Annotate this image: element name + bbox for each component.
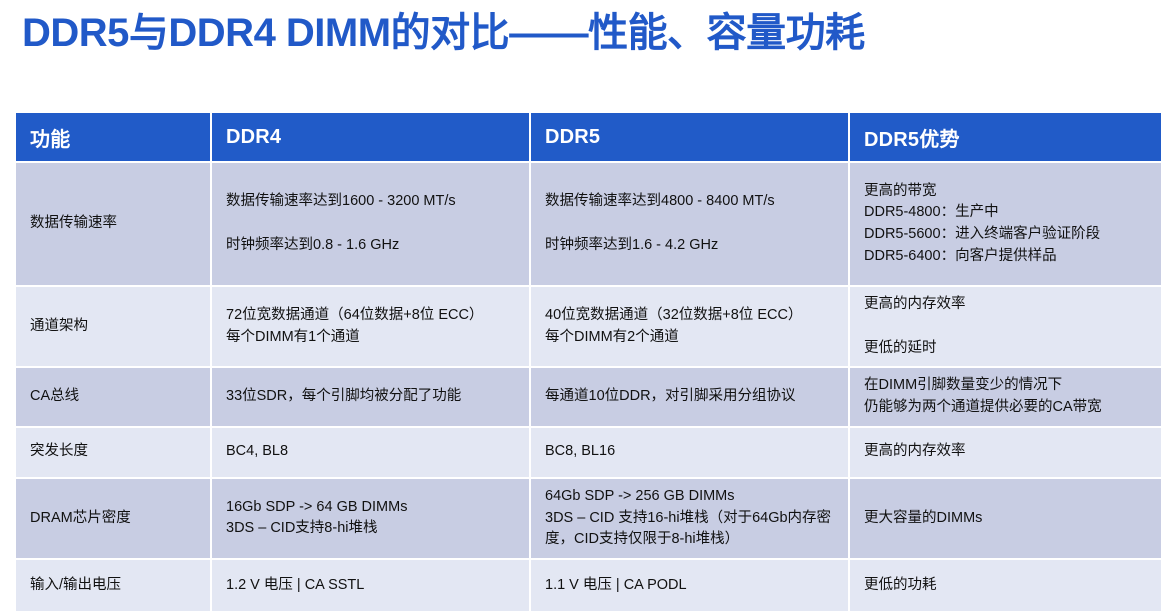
column-header-advantage: DDR5优势: [850, 113, 1161, 161]
comparison-table-container: 功能 DDR4 DDR5 DDR5优势 数据传输速率 数据传输速率达到1600 …: [16, 113, 1155, 611]
cell-ddr4: 72位宽数据通道（64位数据+8位 ECC） 每个DIMM有1个通道: [212, 287, 529, 366]
slide: DDR5与DDR4 DIMM的对比——性能、容量功耗 功能 DDR4 DDR5 …: [0, 0, 1173, 586]
table-row: DRAM芯片密度 16Gb SDP -> 64 GB DIMMs 3DS – C…: [16, 479, 1161, 558]
cell-advantage: 更高的内存效率 更低的延时: [850, 287, 1161, 366]
cell-feature: DRAM芯片密度: [16, 479, 210, 558]
table-row: 通道架构 72位宽数据通道（64位数据+8位 ECC） 每个DIMM有1个通道 …: [16, 287, 1161, 366]
column-header-ddr4: DDR4: [212, 113, 529, 161]
cell-ddr5: BC8, BL16: [531, 428, 848, 477]
cell-ddr5: 每通道10位DDR，对引脚采用分组协议: [531, 368, 848, 426]
comparison-table: 功能 DDR4 DDR5 DDR5优势 数据传输速率 数据传输速率达到1600 …: [14, 111, 1163, 613]
table-row: CA总线 33位SDR，每个引脚均被分配了功能 每通道10位DDR，对引脚采用分…: [16, 368, 1161, 426]
cell-feature: CA总线: [16, 368, 210, 426]
cell-ddr5: 40位宽数据通道（32位数据+8位 ECC） 每个DIMM有2个通道: [531, 287, 848, 366]
table-body: 数据传输速率 数据传输速率达到1600 - 3200 MT/s 时钟频率达到0.…: [16, 163, 1161, 611]
cell-feature: 数据传输速率: [16, 163, 210, 285]
cell-advantage: 更高的内存效率: [850, 428, 1161, 477]
cell-ddr5: 64Gb SDP -> 256 GB DIMMs 3DS – CID 支持16-…: [531, 479, 848, 558]
table-header-row: 功能 DDR4 DDR5 DDR5优势: [16, 113, 1161, 161]
cell-ddr4: 33位SDR，每个引脚均被分配了功能: [212, 368, 529, 426]
cell-feature: 突发长度: [16, 428, 210, 477]
table-row: 突发长度 BC4, BL8 BC8, BL16 更高的内存效率: [16, 428, 1161, 477]
cell-advantage: 更大容量的DIMMs: [850, 479, 1161, 558]
cell-advantage: 在DIMM引脚数量变少的情况下 仍能够为两个通道提供必要的CA带宽: [850, 368, 1161, 426]
cell-feature: 通道架构: [16, 287, 210, 366]
column-header-feature: 功能: [16, 113, 210, 161]
column-header-ddr5: DDR5: [531, 113, 848, 161]
cell-ddr4: 16Gb SDP -> 64 GB DIMMs 3DS – CID支持8-hi堆…: [212, 479, 529, 558]
page-title: DDR5与DDR4 DIMM的对比——性能、容量功耗: [22, 8, 1152, 58]
table-header: 功能 DDR4 DDR5 DDR5优势: [16, 113, 1161, 161]
table-row: 数据传输速率 数据传输速率达到1600 - 3200 MT/s 时钟频率达到0.…: [16, 163, 1161, 285]
cell-advantage: 更高的带宽 DDR5-4800：生产中 DDR5-5600：进入终端客户验证阶段…: [850, 163, 1161, 285]
cell-ddr4: BC4, BL8: [212, 428, 529, 477]
cell-ddr4: 数据传输速率达到1600 - 3200 MT/s 时钟频率达到0.8 - 1.6…: [212, 163, 529, 285]
cell-ddr5: 数据传输速率达到4800 - 8400 MT/s 时钟频率达到1.6 - 4.2…: [531, 163, 848, 285]
